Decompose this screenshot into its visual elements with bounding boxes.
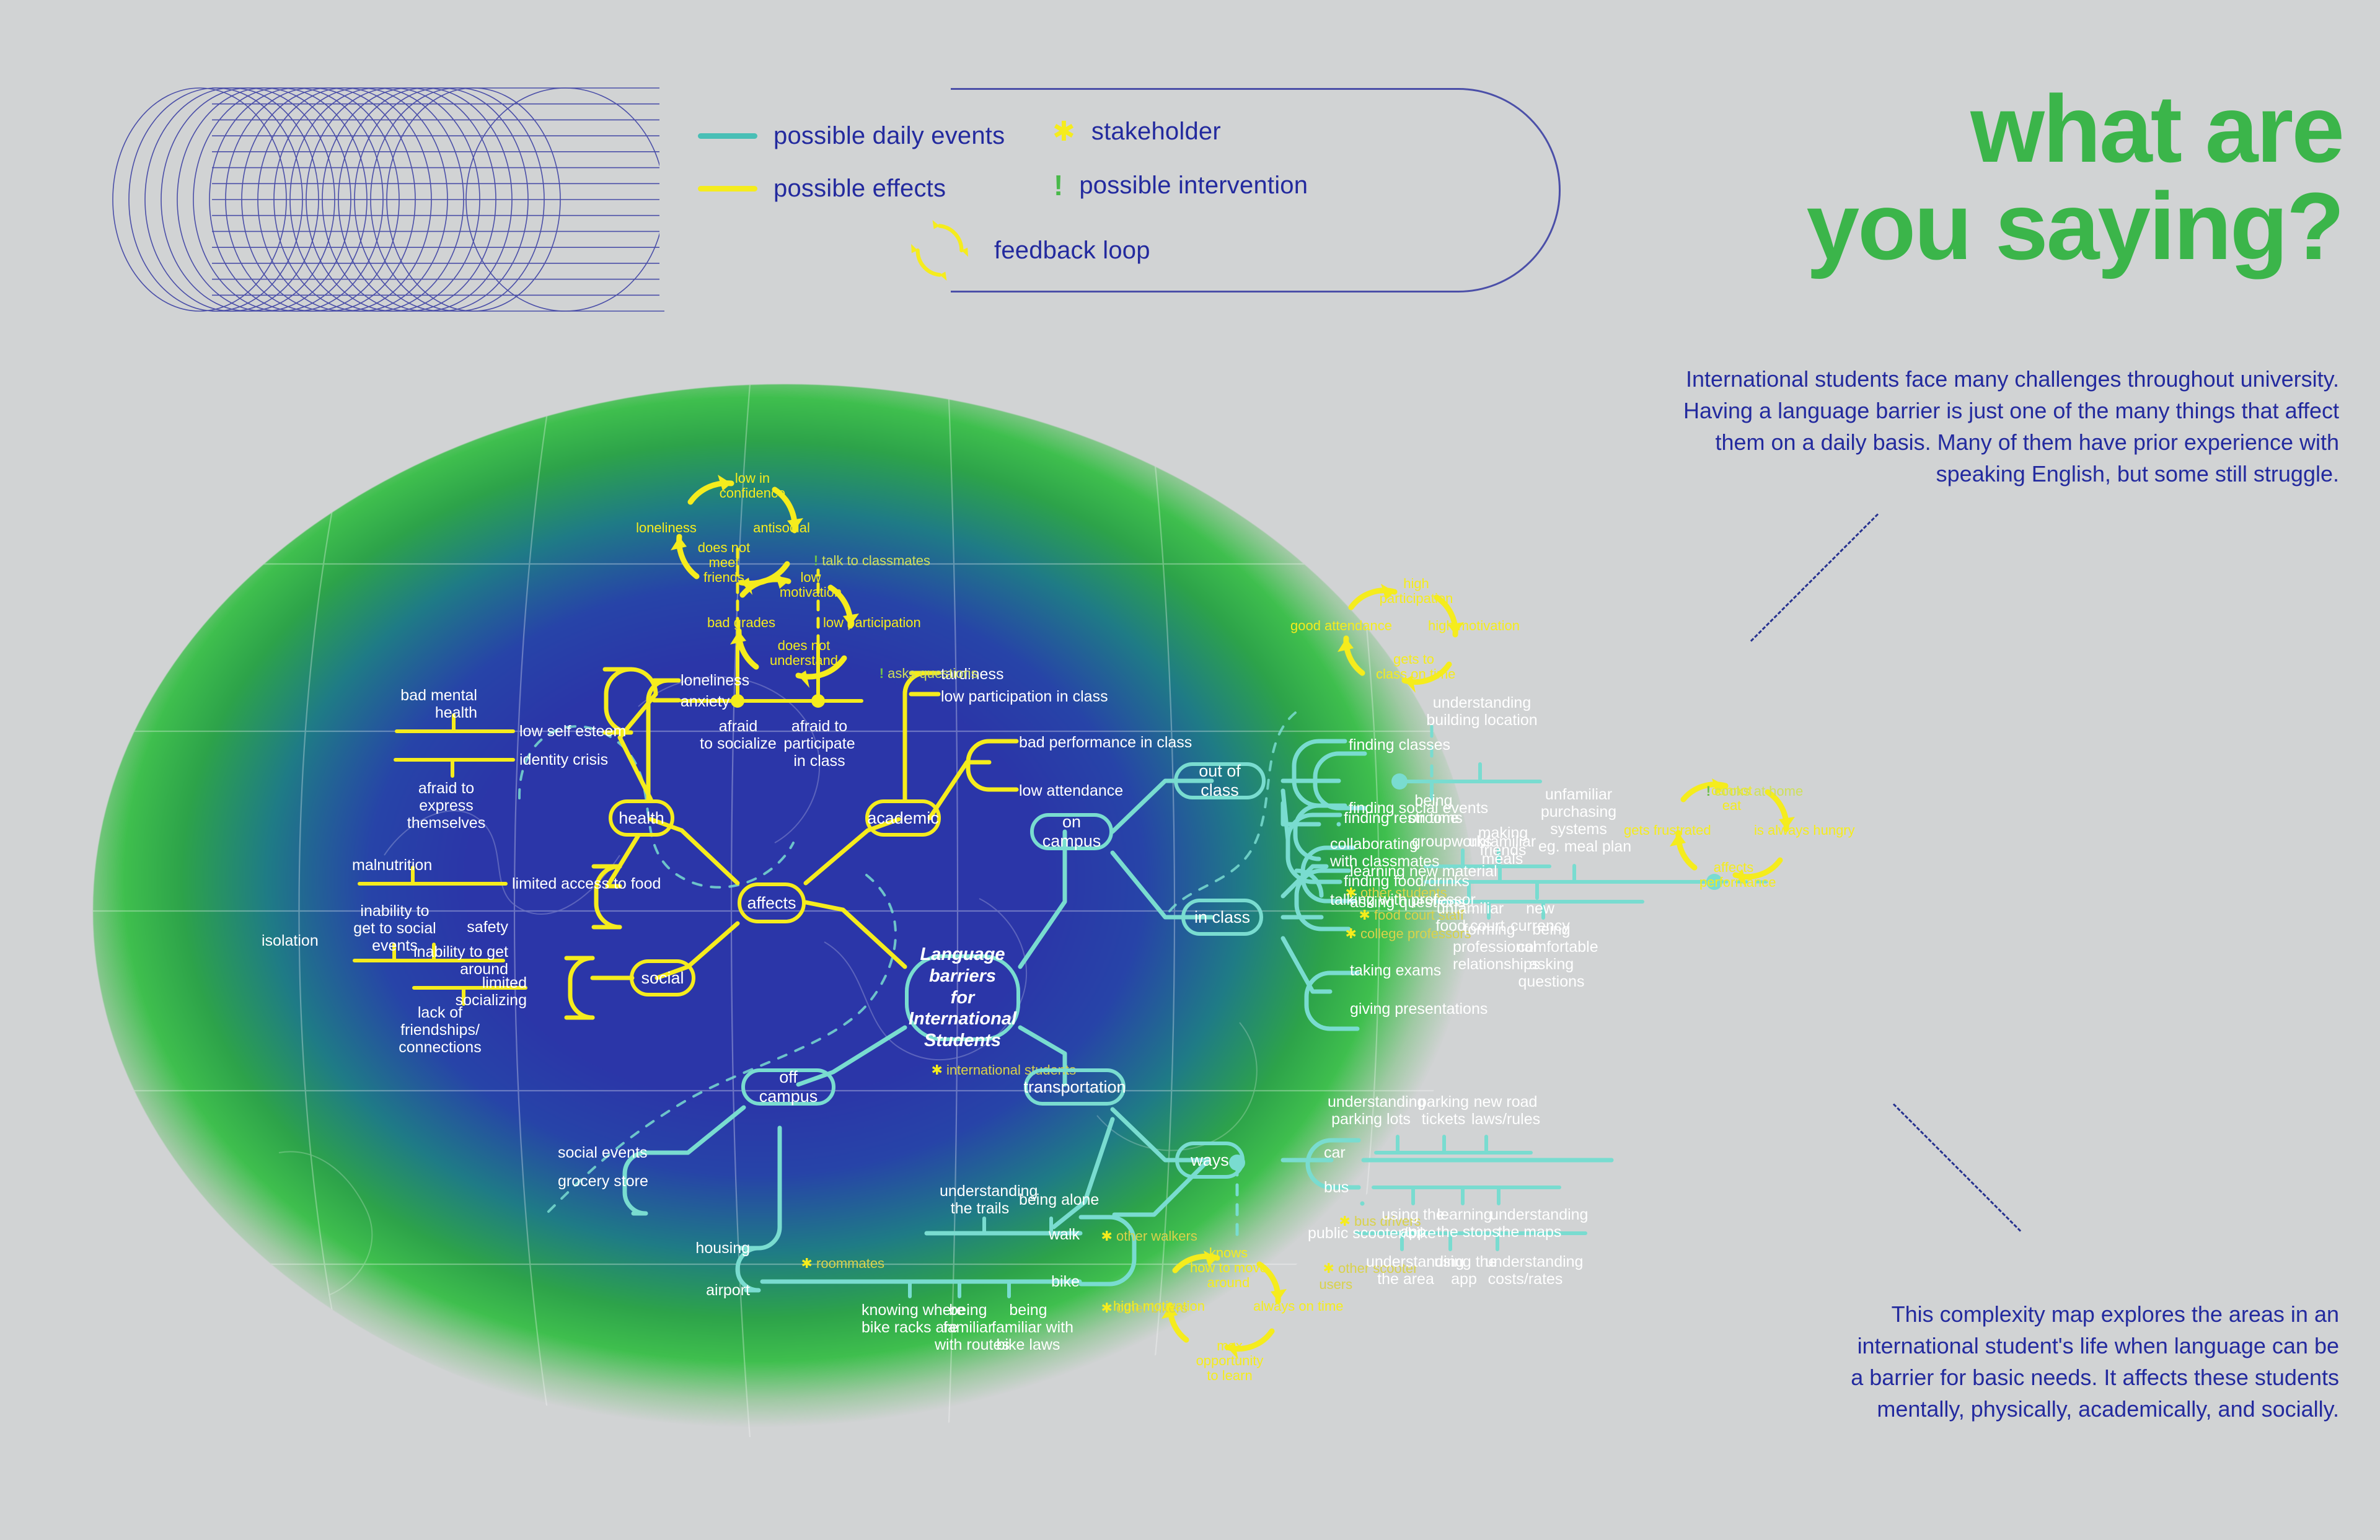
node-label: in class <box>1194 908 1250 927</box>
leaf-understanding-the-trails: understanding the trails <box>940 1182 1020 1217</box>
node-center-label: Language barriers for International Stud… <box>909 944 1016 1052</box>
feedback-loop-motivation: low motivation low participation does no… <box>688 570 899 713</box>
leaf-afraid-to-socialize: afraid to socialize <box>693 718 783 752</box>
loop-node-gets-frustrated: gets frustrated <box>1624 823 1703 838</box>
leaf-being-comfortable-asking-questions: being comfortable asking questions <box>1517 921 1585 990</box>
loop-node-loneliness: loneliness <box>633 521 699 535</box>
loop-node-high-participation: high participation <box>1378 576 1454 606</box>
leaf-giving-presentations: giving presentations <box>1350 1000 1487 1018</box>
asterisk-icon: ✱ <box>931 1062 942 1078</box>
stakeholder-college-professors: ✱ college professors <box>1330 910 1471 942</box>
loop-node-always-on-time: always on time <box>1253 1299 1334 1314</box>
node-center[interactable]: Language barriers for International Stud… <box>905 954 1020 1041</box>
loop-node-affects-performance: affects performance <box>1699 860 1768 890</box>
asterisk-icon: ✱ <box>1101 1300 1112 1316</box>
leaf-being-familiar-with-bike-laws: being familiar with bike laws <box>992 1301 1065 1353</box>
node-off-campus[interactable]: off campus <box>741 1068 835 1106</box>
node-transportation[interactable]: transportation <box>1024 1068 1126 1106</box>
leaf-unfamiliar-purchasing-systems: unfamiliar purchasing systems eg. meal p… <box>1538 786 1619 855</box>
node-label: social <box>641 969 684 988</box>
node-health[interactable]: health <box>609 799 674 837</box>
node-label: on campus <box>1042 812 1101 851</box>
node-label: health <box>619 809 664 828</box>
leaf-afraid-to-express: afraid to express themselves <box>384 780 508 832</box>
asterisk-icon: ✱ <box>1345 926 1356 941</box>
loop-node-does-not-understand: does not understand <box>757 638 850 668</box>
exclamation-icon: ! <box>879 666 884 681</box>
node-label: out of class <box>1186 762 1253 800</box>
leaf-parking-tickets: parking tickets <box>1416 1093 1471 1128</box>
loop-node-high-motivation: high motivation <box>1428 618 1515 633</box>
leaf-taking-exams: taking exams <box>1350 962 1441 979</box>
leaf-low-self-esteem: low self esteem <box>519 723 626 740</box>
leaf-car: car <box>1324 1144 1346 1161</box>
feedback-loop-participation: high participation high motivation gets … <box>1297 576 1507 713</box>
loop-node-low-motivation: low motivation <box>775 570 847 600</box>
leaf-inability-to-get-around: inability to get around <box>409 943 508 978</box>
intervention-cooks-at-home: ! cooks at home <box>1683 767 1803 799</box>
leaf-social-events-off-campus: social events <box>558 1144 645 1161</box>
stakeholder-international-students: ✱ international students <box>916 1046 1021 1094</box>
leaf-lack-of-friendships: lack of friendships/ connections <box>390 1004 490 1056</box>
leaf-understanding-the-area: understanding the area <box>1366 1253 1445 1288</box>
asterisk-icon: ✱ <box>1101 1228 1112 1244</box>
node-social[interactable]: social <box>630 959 695 997</box>
loop-node-max-opportunity-to-learn: max opportunity to learn <box>1195 1339 1264 1384</box>
leaf-talking-with-professor: talking with professor <box>1330 891 1476 909</box>
asterisk-icon: ✱ <box>801 1256 812 1271</box>
leaf-understanding-the-maps: understanding the maps <box>1490 1206 1569 1241</box>
leaf-groupworks: groupworks <box>1412 833 1480 850</box>
leaf-airport: airport <box>676 1282 750 1299</box>
leaf-housing: housing <box>676 1239 750 1257</box>
leaf-finding-classes: finding classes <box>1349 736 1450 754</box>
loop-node-good-attendance: good attendance <box>1290 618 1377 633</box>
leaf-walk: walk <box>1029 1226 1080 1243</box>
leaf-malnutrition: malnutrition <box>352 856 432 874</box>
stakeholder-other-walkers: ✱ other walkers <box>1086 1212 1197 1244</box>
leaf-understanding-costs-rates: understanding costs/rates <box>1485 1253 1566 1288</box>
leaf-identity-crisis: identity crisis <box>519 751 608 768</box>
leaf-bad-performance-in-class: bad performance in class <box>1019 734 1192 751</box>
node-label: off campus <box>754 1068 823 1106</box>
loop-node-bad-grades: bad grades <box>704 615 778 630</box>
node-affects[interactable]: affects <box>738 882 806 923</box>
feedback-loop-mobility: knows how to move around always on time … <box>1122 1246 1326 1382</box>
leaf-new-road-laws: new road laws/rules <box>1471 1093 1540 1128</box>
exclamation-icon: ! <box>1706 783 1711 799</box>
node-label: ways <box>1191 1151 1229 1170</box>
loop-node-low-in-confidence: low in confidence <box>715 471 790 501</box>
leaf-learning-the-stops: learning the stops <box>1437 1206 1492 1241</box>
leaf-afraid-to-participate: afraid to participate in class <box>776 718 863 770</box>
leaf-making-friends: making friends <box>1475 824 1531 859</box>
node-ways[interactable]: ways <box>1175 1142 1245 1179</box>
leaf-bike: bike <box>1029 1273 1080 1290</box>
leaf-understanding-parking-lots: understanding parking lots <box>1328 1093 1414 1128</box>
leaf-isolation: isolation <box>262 932 319 949</box>
exclamation-icon: ! <box>814 553 818 568</box>
leaf-limited-access-to-food: limited access to food <box>512 875 661 892</box>
intervention-asks-questions: ! asks questions <box>857 649 978 682</box>
loop-node-low-participation: low participation <box>823 615 910 630</box>
leaf-low-attendance: low attendance <box>1019 782 1123 799</box>
leaf-bus: bus <box>1324 1179 1349 1196</box>
leaf-low-participation-in-class: low participation in class <box>941 688 1108 705</box>
feedback-loop-hunger: cannot eat ! cooks at home is always hun… <box>1631 767 1836 904</box>
node-label: transportation <box>1023 1078 1126 1097</box>
node-in-class[interactable]: in class <box>1181 899 1263 936</box>
leaf-grocery-store: grocery store <box>558 1173 645 1190</box>
loop-node-knows-how-to-move-around: knows how to move around <box>1190 1246 1267 1291</box>
stakeholder-roommates: ✱ roommates <box>786 1239 884 1272</box>
leaf-public-scooter-bike: public scooter/bike <box>1308 1225 1436 1242</box>
loop-node-antisocial: antisocial <box>747 521 816 535</box>
node-label: academic <box>867 809 939 828</box>
loop-node-high-motivation-2: high motivation <box>1113 1299 1200 1314</box>
leaf-forming-professional-relationships: forming professional relationships <box>1453 921 1526 973</box>
leaf-finding-restrooms: finding restrooms <box>1344 809 1463 827</box>
leaf-being-alone: being alone <box>1019 1191 1087 1208</box>
node-academic[interactable]: academic <box>865 799 941 837</box>
leaf-knowing-where-bike-racks-are: knowing where bike racks are <box>862 1301 942 1336</box>
leaf-bad-mental-health: bad mental health <box>353 687 477 721</box>
loop-node-gets-to-class-on-time: gets to class on time <box>1376 652 1452 682</box>
node-label: affects <box>747 894 796 913</box>
intervention-talk-to-classmates: ! talk to classmates <box>791 537 930 569</box>
loop-node-is-always-hungry: is always hungry <box>1754 823 1847 838</box>
leaf-safety: safety <box>434 918 508 936</box>
node-out-of-class[interactable]: out of class <box>1174 762 1266 799</box>
node-on-campus[interactable]: on campus <box>1030 813 1113 850</box>
